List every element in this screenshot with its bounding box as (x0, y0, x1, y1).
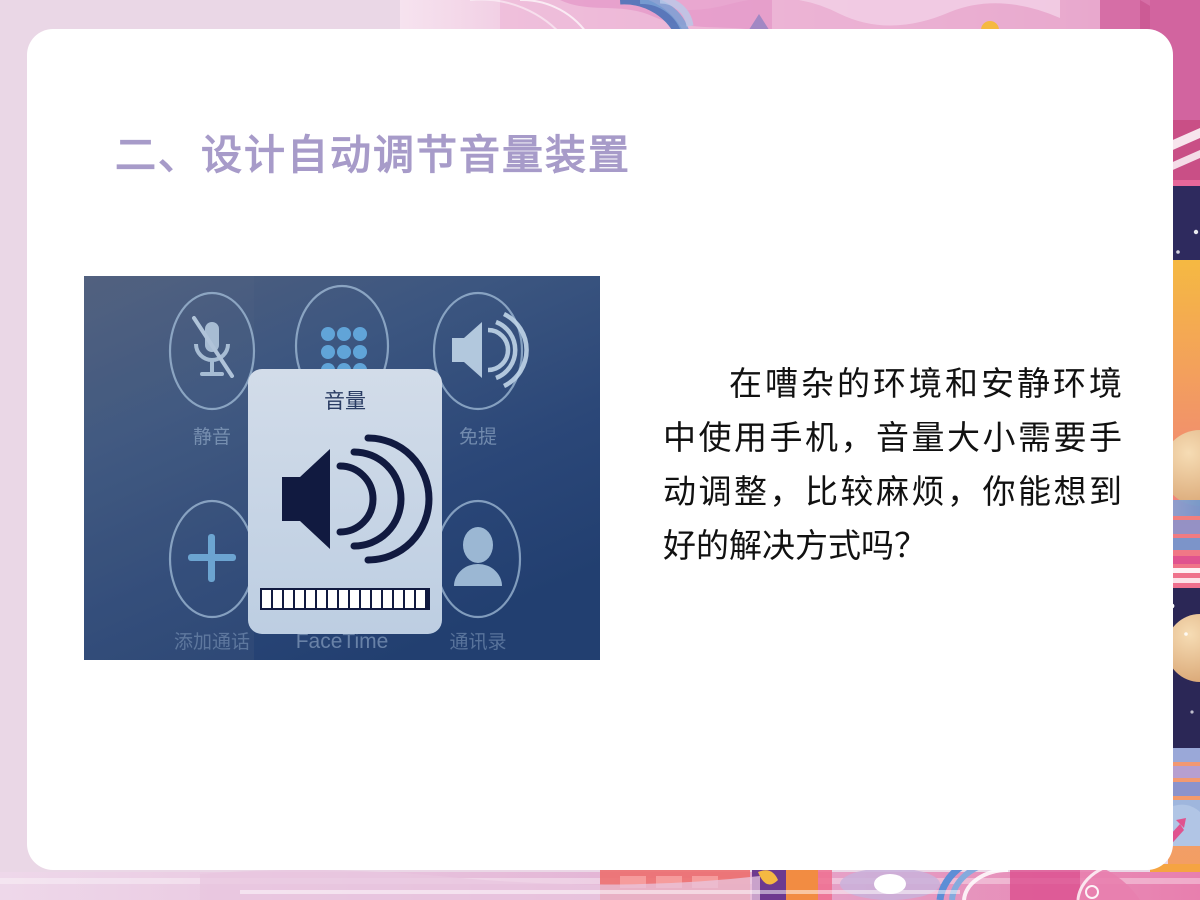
volume-overlay-label: 音量 (324, 389, 366, 413)
call-button-label-mute: 静音 (193, 426, 231, 448)
call-button-label-speaker: 免提 (459, 426, 497, 448)
page-title: 二、设计自动调节音量装置 (115, 121, 631, 181)
volume-level-bar (260, 588, 430, 610)
volume-dialog-illustration: 静音 免提 添加通话 FaceTime 通讯录 音量 (84, 276, 600, 660)
slide-card: 二、设计自动调节音量装置 (27, 29, 1173, 870)
call-button-label-add-call: 添加通话 (174, 631, 250, 653)
call-button-label-contacts: 通讯录 (449, 631, 506, 653)
body-paragraph: 在嘈杂的环境和安静环境中使用手机，音量大小需要手动调整，比较麻烦，你能想到好的解… (663, 357, 1122, 573)
